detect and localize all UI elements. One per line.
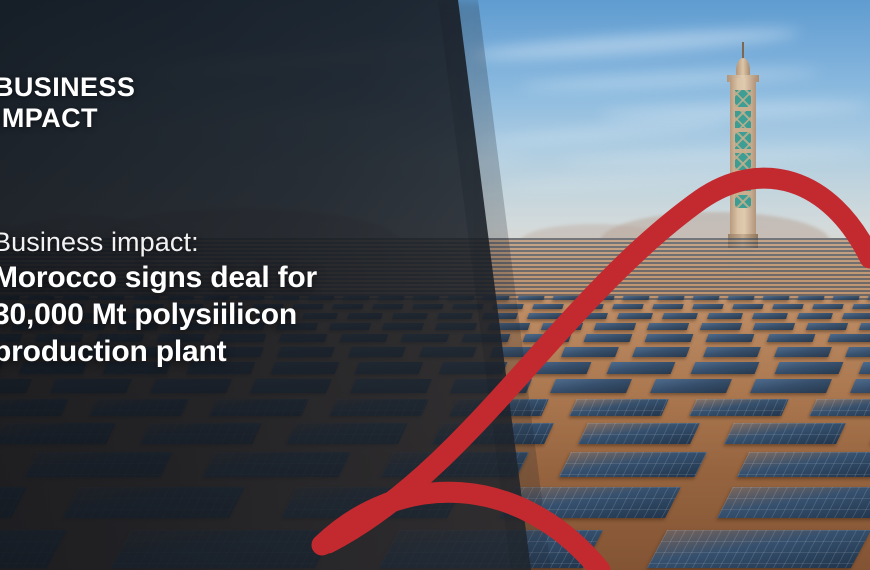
solar-panel bbox=[753, 323, 795, 330]
solar-panel bbox=[523, 334, 572, 342]
solar-panel bbox=[752, 313, 788, 319]
kicker-label: BUSINESS IMPACT bbox=[0, 72, 135, 134]
solar-panel bbox=[797, 296, 824, 300]
solar-panel bbox=[732, 304, 764, 309]
headline-title: Morocco signs deal for 30,000 Mt polysii… bbox=[0, 259, 317, 370]
solar-panel bbox=[550, 379, 632, 393]
solar-panel bbox=[517, 296, 544, 300]
solar-panel bbox=[622, 296, 649, 300]
solar-panel bbox=[541, 323, 583, 330]
solar-panel bbox=[797, 313, 833, 319]
solar-panel bbox=[578, 423, 700, 444]
solar-panel bbox=[607, 362, 676, 374]
solar-panel bbox=[559, 452, 707, 477]
solar-panel bbox=[832, 296, 859, 300]
solar-panel bbox=[587, 296, 614, 300]
solar-panel bbox=[737, 452, 870, 477]
solar-panel bbox=[552, 296, 579, 300]
solar-panel bbox=[612, 304, 644, 309]
solar-panel bbox=[703, 347, 761, 357]
solar-panel bbox=[845, 347, 870, 357]
solar-panel bbox=[584, 334, 633, 342]
solar-panel bbox=[774, 347, 832, 357]
headline-eyebrow: Business impact: bbox=[0, 225, 317, 259]
solar-panel bbox=[657, 296, 684, 300]
solar-panel bbox=[717, 487, 870, 518]
solar-panel bbox=[594, 323, 636, 330]
solar-panel bbox=[527, 313, 563, 319]
tower-dome bbox=[736, 58, 750, 76]
solar-panel bbox=[750, 379, 832, 393]
solar-panel bbox=[852, 304, 870, 309]
solar-panel bbox=[689, 399, 789, 416]
solar-panel bbox=[706, 334, 755, 342]
solar-panel bbox=[523, 362, 592, 374]
solar-panel bbox=[772, 304, 804, 309]
solar-panel bbox=[828, 334, 870, 342]
solar-panel bbox=[842, 313, 870, 319]
solar-panel bbox=[806, 323, 848, 330]
solar-panel bbox=[662, 313, 698, 319]
solar-panel bbox=[700, 323, 742, 330]
solar-panel bbox=[647, 530, 870, 568]
solar-panel bbox=[650, 379, 732, 393]
solar-panel bbox=[727, 296, 754, 300]
solar-panel bbox=[707, 313, 743, 319]
solar-panel bbox=[617, 313, 653, 319]
solar-panel bbox=[572, 304, 604, 309]
solar-panel bbox=[692, 304, 724, 309]
solar-panel bbox=[762, 296, 789, 300]
solar-panel bbox=[812, 304, 844, 309]
solar-panel bbox=[809, 399, 870, 416]
solar-panel bbox=[850, 379, 870, 393]
solar-panel bbox=[767, 334, 816, 342]
solar-panel bbox=[561, 347, 619, 357]
solar-panel bbox=[859, 362, 870, 374]
headline-block: Business impact: Morocco signs deal for … bbox=[0, 225, 317, 370]
solar-panel bbox=[632, 347, 690, 357]
solar-tower-minaret bbox=[726, 42, 760, 247]
solar-panel bbox=[692, 296, 719, 300]
solar-panel bbox=[532, 304, 564, 309]
solar-panel bbox=[691, 362, 760, 374]
solar-panel bbox=[724, 423, 846, 444]
solar-panel bbox=[647, 323, 689, 330]
promo-banner: BUSINESS IMPACT Business impact: Morocco… bbox=[0, 0, 870, 570]
solar-panel bbox=[569, 399, 669, 416]
solar-panel bbox=[775, 362, 844, 374]
solar-panel bbox=[859, 323, 870, 330]
solar-panel bbox=[652, 304, 684, 309]
solar-panel bbox=[572, 313, 608, 319]
tower-lattice-pattern bbox=[735, 90, 751, 208]
solar-panel bbox=[645, 334, 694, 342]
